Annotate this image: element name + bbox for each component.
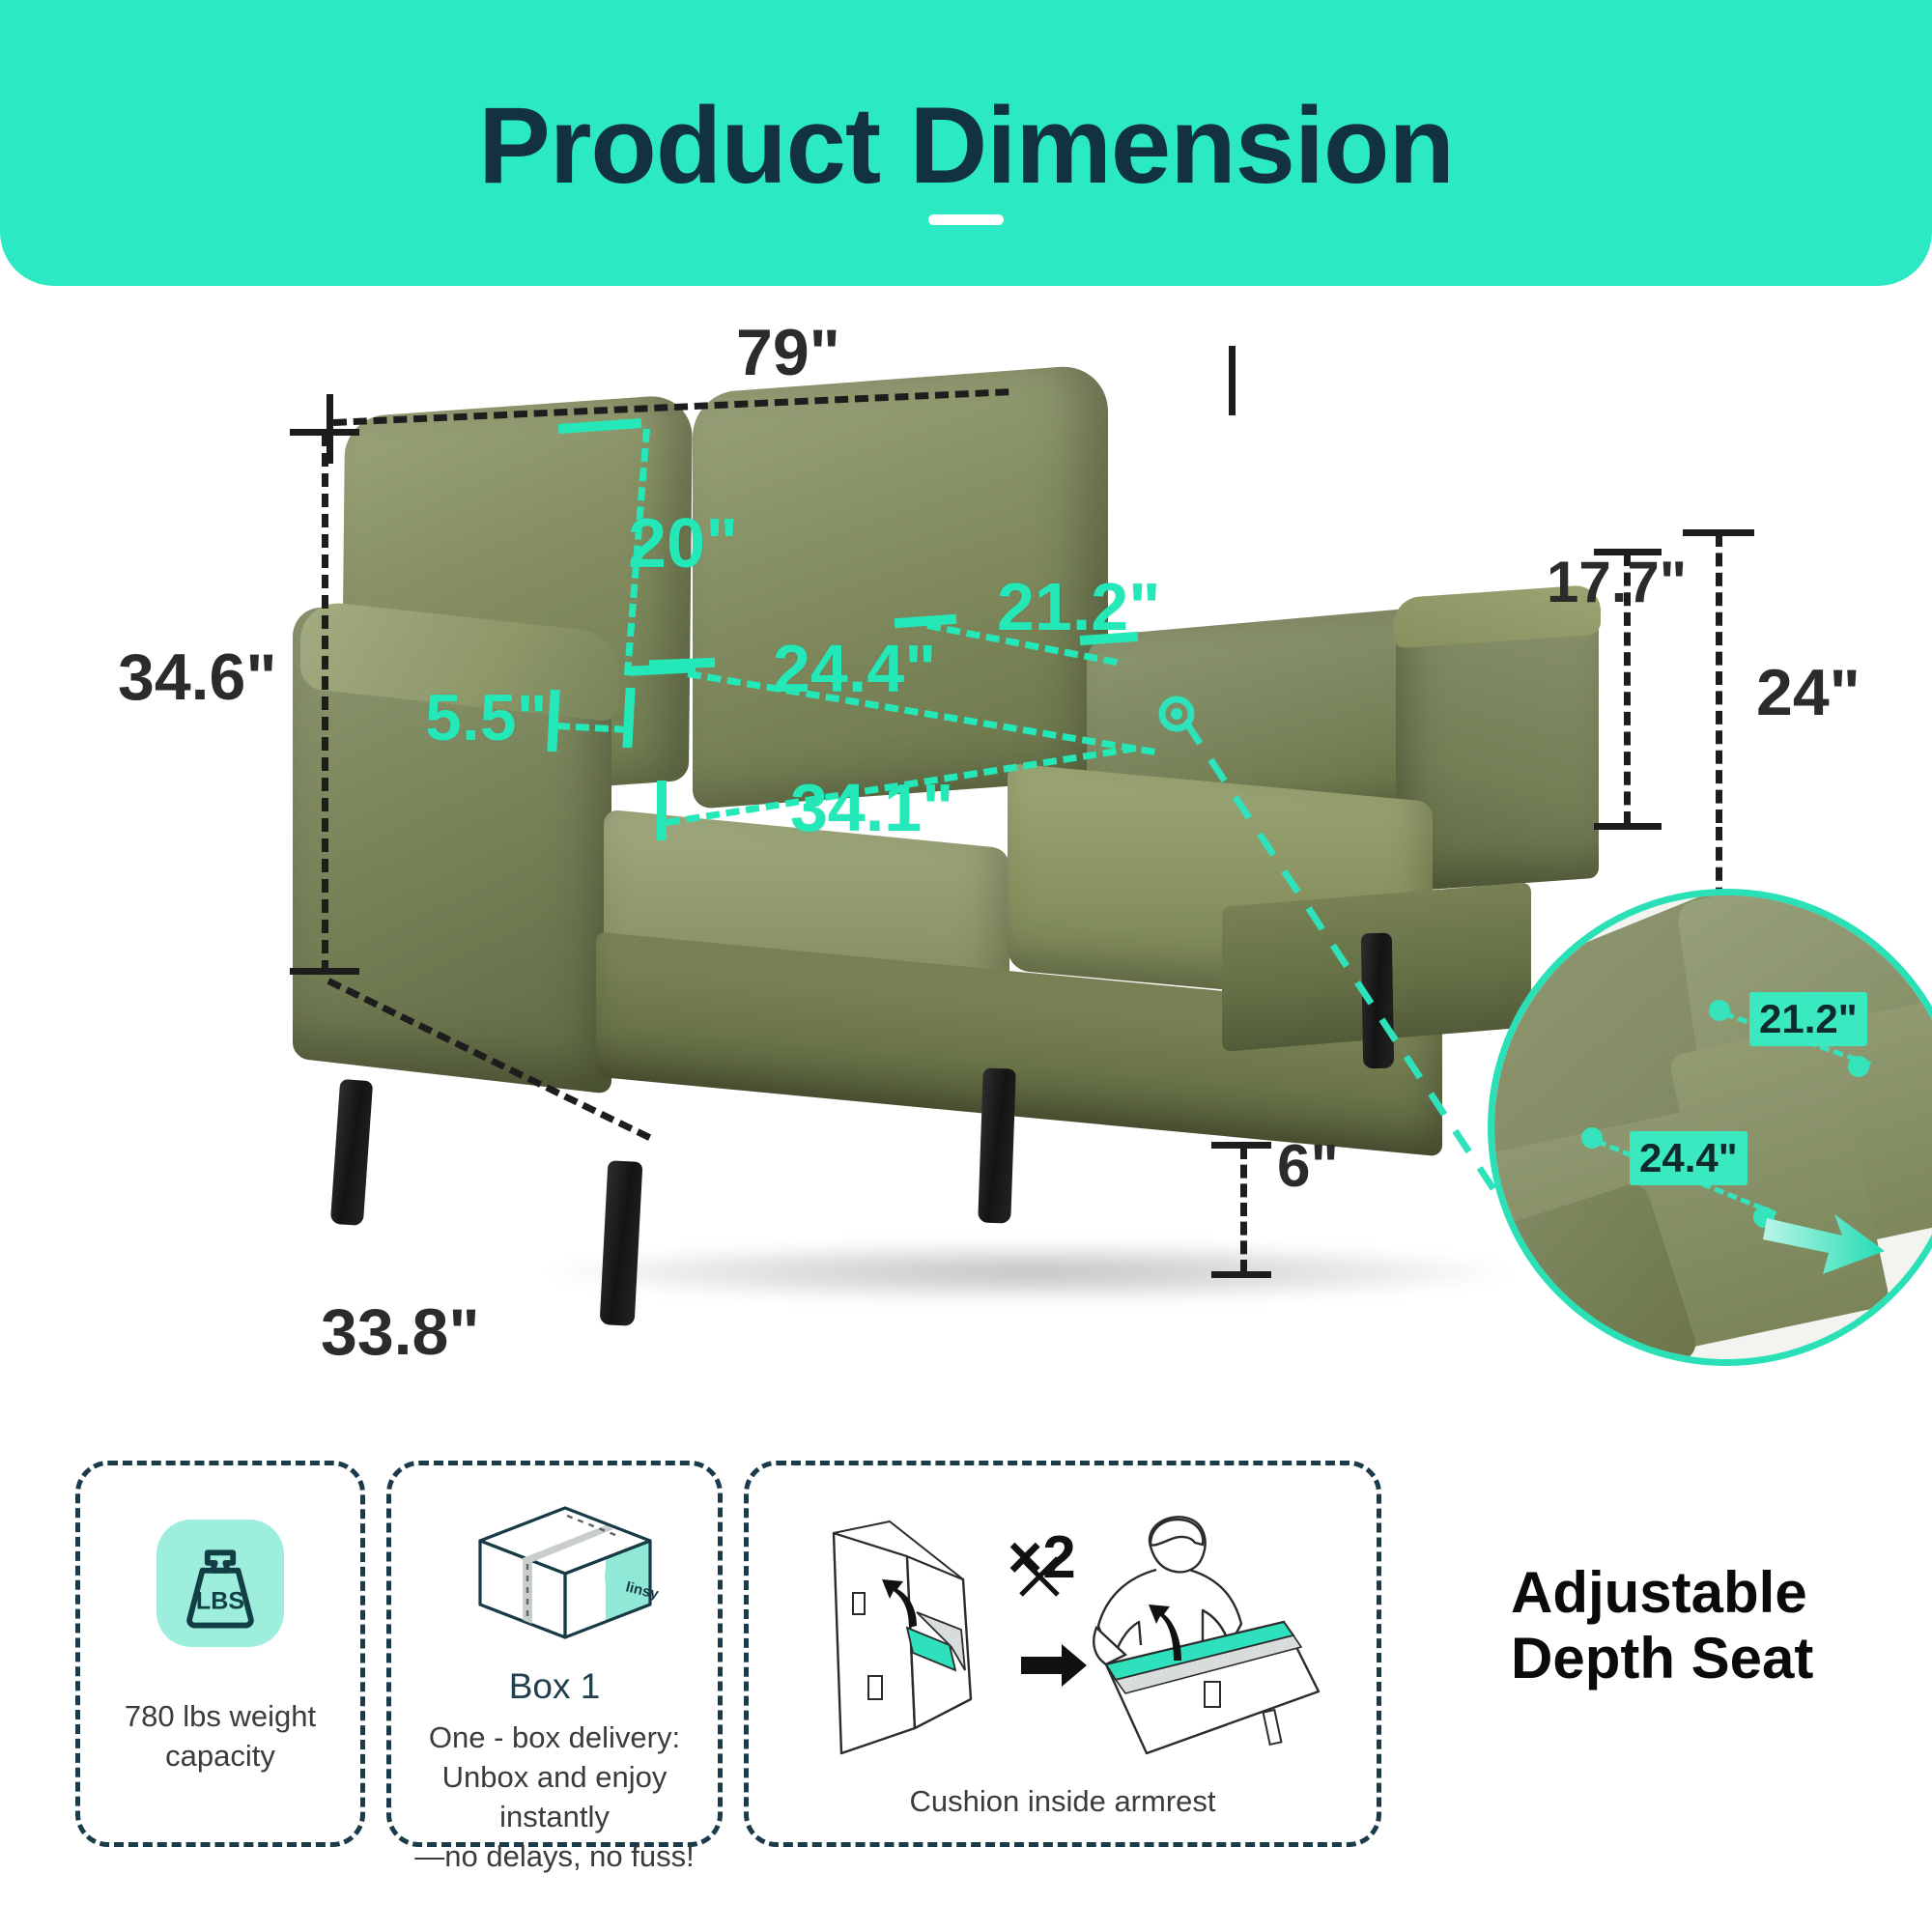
callout-caption-line1: Adjustable	[1511, 1560, 1932, 1626]
panel-weight-capacity: LBS 780 lbs weight capacity	[75, 1461, 365, 1847]
callout-caption: Adjustable Depth Seat	[1488, 1560, 1932, 1692]
page-header: Product Dimension	[0, 0, 1932, 286]
panel-box-caption-line3: —no delays, no fuss!	[391, 1837, 718, 1877]
dimension-label-overall-width: 79"	[736, 315, 840, 390]
panel-box-delivery: linsy Box 1 One - box delivery: Unbox an…	[386, 1461, 723, 1847]
leg-height-tick-bottom	[1211, 1271, 1271, 1278]
sofa-leg	[330, 1079, 373, 1226]
feature-panels: LBS 780 lbs weight capacity linsy Box 1 …	[0, 1461, 1468, 1866]
panel-cushion-multiplier: ×2	[1008, 1523, 1076, 1592]
adjustable-depth-callout: 21.2" 24.4"	[1488, 889, 1932, 1366]
panel-weight-caption-line2: capacity	[80, 1737, 360, 1776]
dimension-label-seat-height: 24"	[1756, 655, 1861, 730]
sofa-leg	[1361, 933, 1394, 1069]
leg-height-dimension-line	[1240, 1146, 1247, 1273]
dimension-label-armrest-width: 5.5"	[425, 680, 548, 755]
height-dimension-line	[322, 433, 328, 974]
shipping-box-icon: linsy	[461, 1491, 664, 1655]
seat-height-dimension-line	[1716, 533, 1722, 823]
title-underline-rule	[928, 214, 1004, 225]
callout-caption-line2: Depth Seat	[1511, 1626, 1932, 1691]
depth-arrow-icon	[1494, 895, 1932, 1359]
height-tick-bottom	[290, 968, 359, 975]
dimension-label-arm-height: 17.7"	[1547, 549, 1687, 615]
panel-box-caption-line1: One - box delivery:	[391, 1719, 718, 1758]
sofa-floor-shadow	[546, 1242, 1512, 1302]
panel-box-caption-line2: Unbox and enjoy instantly	[391, 1758, 718, 1837]
dimension-label-seat-width: 34.1"	[790, 769, 953, 846]
panel-weight-caption-line1: 780 lbs weight	[80, 1697, 360, 1737]
sofa-leg	[978, 1067, 1016, 1223]
panel-box-title: Box 1	[391, 1666, 718, 1707]
panel-weight-caption: 780 lbs weight capacity	[80, 1697, 360, 1776]
weight-lbs-icon: LBS	[156, 1520, 284, 1647]
dimension-label-leg-height: 6"	[1277, 1132, 1339, 1201]
panel-cushion-caption: Cushion inside armrest	[749, 1782, 1377, 1822]
dimension-label-overall-height: 34.6"	[118, 639, 277, 715]
seat-width-tick-left	[657, 781, 667, 840]
svg-text:LBS: LBS	[196, 1587, 244, 1614]
width-tick-right	[1229, 346, 1236, 415]
panel-cushion-armrest: ×2 Cushion inside armrest	[744, 1461, 1381, 1847]
page-title: Product Dimension	[0, 83, 1932, 208]
dimension-label-overall-depth: 33.8"	[321, 1294, 480, 1370]
dimension-label-back-cushion-height: 20"	[628, 504, 738, 583]
dimension-label-seat-depth-max: 24.4"	[773, 630, 936, 707]
panel-box-caption: One - box delivery: Unbox and enjoy inst…	[391, 1719, 718, 1877]
arm-height-tick-bottom	[1594, 823, 1662, 830]
